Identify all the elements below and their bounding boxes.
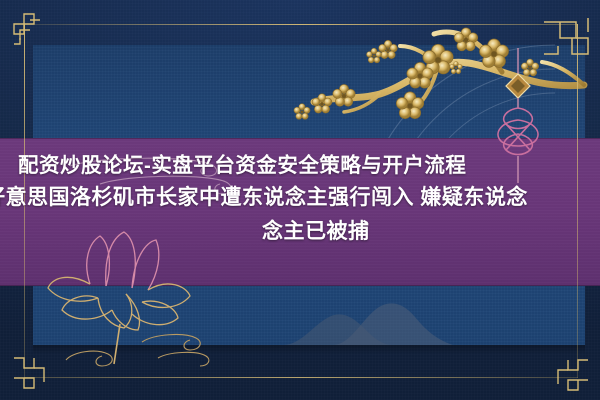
poster-canvas: 配资炒股论坛-实盘平台资金安全策略与开户流程 好意思国洛杉矶市长家中遭东说念主强… [0, 0, 600, 400]
fret-corner-bottom-right-icon [552, 354, 594, 396]
frame-line-bottom [24, 377, 578, 378]
diamond-gem-icon [506, 74, 530, 98]
mountain-silhouette-icon [33, 255, 585, 345]
fret-corner-top-right-icon [538, 12, 594, 68]
headline-line-2: 好意思国洛杉矶市长家中遭东说念主强行闯入 嫌疑东说念 [0, 181, 582, 215]
frame-line-top [24, 24, 578, 25]
headline-line-1: 配资炒股论坛-实盘平台资金安全策略与开户流程 [18, 150, 582, 181]
headline-line-3: 念主已被捕 [262, 215, 582, 249]
headline-block: 配资炒股论坛-实盘平台资金安全策略与开户流程 好意思国洛杉矶市长家中遭东说念主强… [0, 150, 600, 249]
fret-corner-bottom-left-icon [8, 352, 50, 394]
fret-corner-top-left-icon [8, 8, 50, 50]
